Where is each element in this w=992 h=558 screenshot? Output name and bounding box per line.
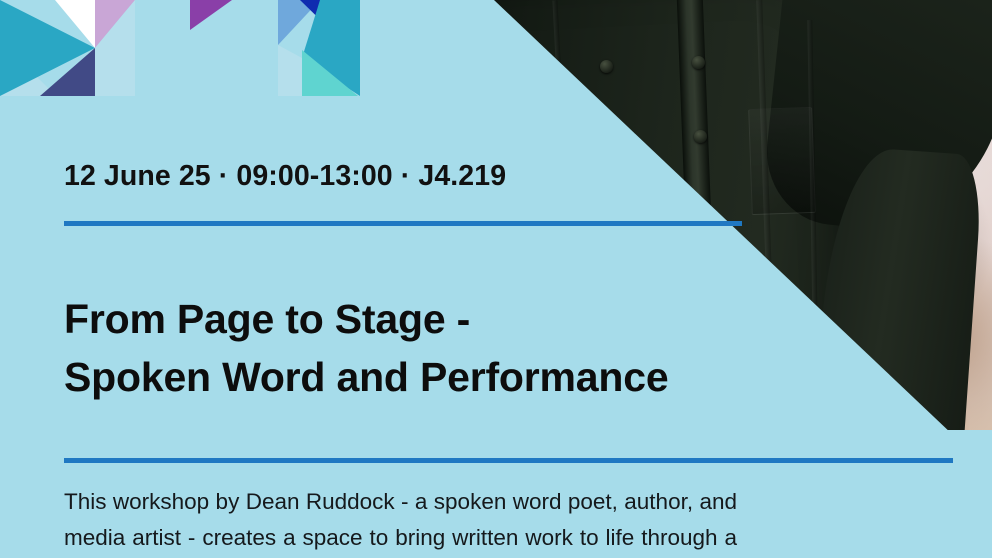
divider-rule-top	[64, 221, 742, 226]
divider-rule-bottom	[64, 458, 953, 463]
description-text: This workshop by Dean Ruddock - a spoken…	[64, 484, 737, 558]
page-title: From Page to Stage - Spoken Word and Per…	[64, 290, 668, 406]
event-poster: 12 June 25 · 09:00-13:00 · J4.219 From P…	[0, 0, 992, 558]
poster-content: 12 June 25 · 09:00-13:00 · J4.219 From P…	[0, 0, 992, 558]
event-meta-line: 12 June 25 · 09:00-13:00 · J4.219	[64, 160, 506, 193]
